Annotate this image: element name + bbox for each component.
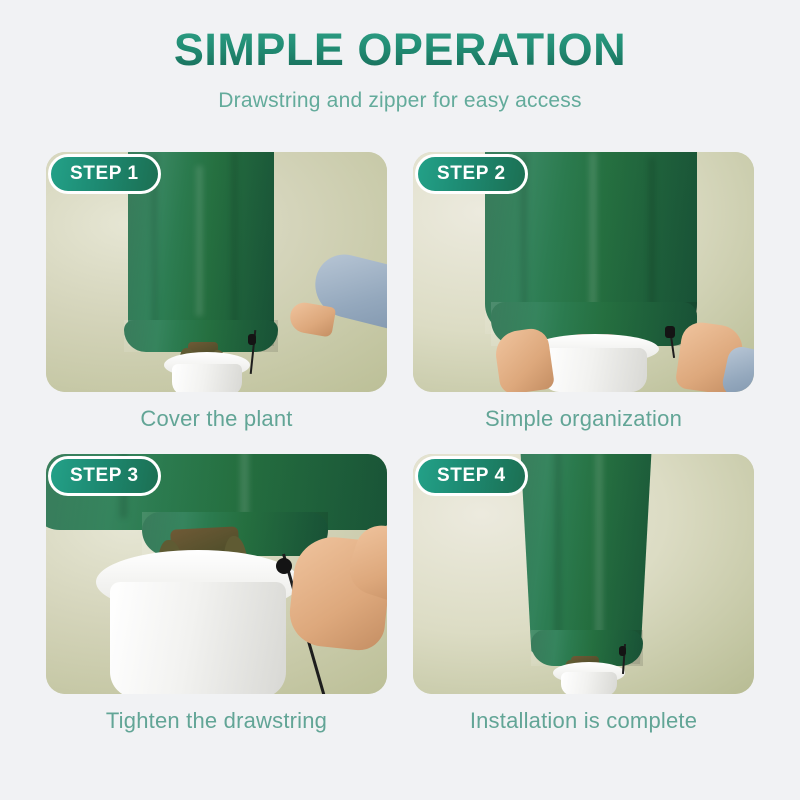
- plant-pot: [561, 672, 617, 694]
- fabric-fold: [555, 454, 561, 644]
- fabric-fold: [649, 158, 655, 308]
- step-2-caption: Simple organization: [413, 406, 754, 432]
- header: SIMPLE OPERATION Drawstring and zipper f…: [0, 0, 800, 113]
- plant-pot: [543, 348, 647, 392]
- drawstring-toggle: [248, 334, 256, 345]
- step-2-photo: STEP 2: [413, 152, 754, 392]
- drawstring-toggle: [619, 646, 626, 656]
- fabric-fold: [589, 152, 597, 320]
- step-4-caption: Installation is complete: [413, 708, 754, 734]
- step-1-caption: Cover the plant: [46, 406, 387, 432]
- step-3-caption: Tighten the drawstring: [46, 708, 387, 734]
- step-card-2: STEP 2 Simple organization: [413, 152, 754, 432]
- fabric-fold: [240, 454, 249, 516]
- steps-grid: STEP 1 Cover the plant: [46, 152, 754, 734]
- fabric-fold: [196, 166, 203, 316]
- step-3-badge: STEP 3: [48, 456, 161, 496]
- page-subtitle: Drawstring and zipper for easy access: [0, 89, 800, 113]
- page-title: SIMPLE OPERATION: [0, 26, 800, 73]
- step-4-badge: STEP 4: [415, 456, 528, 496]
- fabric-fold: [232, 152, 237, 332]
- step-1-photo: STEP 1: [46, 152, 387, 392]
- step-card-4: STEP 4 Installation is complete: [413, 454, 754, 734]
- hand-icon: [493, 327, 555, 392]
- step-4-photo: STEP 4: [413, 454, 754, 694]
- step-card-3: STEP 3 Tighten the drawstring: [46, 454, 387, 734]
- step-1-badge: STEP 1: [48, 154, 161, 194]
- plant-pot: [172, 364, 242, 392]
- drawstring-toggle: [665, 326, 675, 338]
- plant-pot: [110, 582, 286, 694]
- step-card-1: STEP 1 Cover the plant: [46, 152, 387, 432]
- step-3-photo: STEP 3: [46, 454, 387, 694]
- drawstring-toggle: [276, 558, 292, 574]
- step-2-badge: STEP 2: [415, 154, 528, 194]
- fabric-fold: [595, 454, 603, 640]
